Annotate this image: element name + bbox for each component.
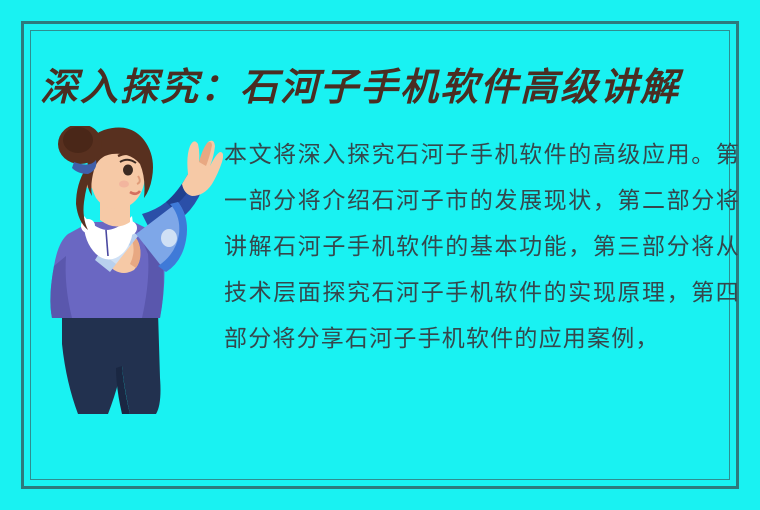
body-text: 本文将深入探究石河子手机软件的高级应用。第一部分将介绍石河子市的发展现状，第二部… bbox=[224, 132, 740, 362]
banner-canvas: 深入探究：石河子手机软件高级讲解 bbox=[0, 0, 760, 510]
raised-hand bbox=[182, 141, 223, 196]
page-title: 深入探究：石河子手机软件高级讲解 bbox=[40, 58, 730, 116]
pants-shape bbox=[62, 312, 161, 414]
woman-with-megaphone-illustration bbox=[38, 126, 223, 418]
